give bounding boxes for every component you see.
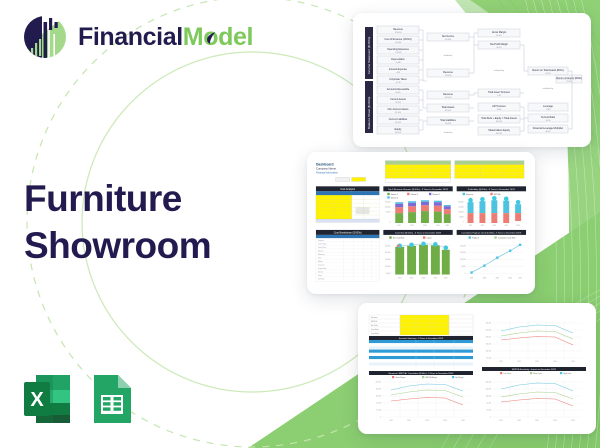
svg-text:Total Debt + Equity = Total As: Total Debt + Equity = Total Assets bbox=[481, 117, 517, 120]
svg-text:Financial Information: Financial Information bbox=[316, 171, 339, 174]
svg-text:20X1: 20X1 bbox=[499, 361, 503, 363]
svg-text:20X4: 20X4 bbox=[443, 420, 447, 422]
brand-word-model: Model bbox=[183, 23, 253, 51]
svg-text:200,000: 200,000 bbox=[458, 202, 463, 204]
svg-text:20X1: 20X1 bbox=[398, 277, 402, 279]
svg-text:50,000: 50,000 bbox=[486, 403, 491, 405]
svg-text:20X3: 20X3 bbox=[423, 225, 427, 227]
svg-text:100,000: 100,000 bbox=[486, 396, 492, 398]
svg-text:62,100: 62,100 bbox=[395, 112, 401, 114]
svg-text:Payback: Payback bbox=[472, 238, 479, 240]
brand-word-financial: Financial bbox=[78, 23, 183, 51]
svg-text:Gross Margin: Gross Margin bbox=[492, 31, 507, 34]
svg-text:20X4: 20X4 bbox=[553, 361, 557, 363]
excel-icon[interactable]: X bbox=[22, 373, 72, 425]
svg-text:18,300: 18,300 bbox=[395, 122, 401, 124]
svg-text:200,000: 200,000 bbox=[385, 252, 390, 254]
svg-text:Non-Current Assets: Non-Current Assets bbox=[388, 108, 410, 111]
svg-text:20X1: 20X1 bbox=[470, 277, 474, 279]
svg-text:24,900: 24,900 bbox=[395, 102, 401, 104]
svg-text:20X4: 20X4 bbox=[508, 277, 512, 279]
svg-text:Cumulative Payback Chart ($ 00: Cumulative Payback Chart ($ 000s) - 5 Ye… bbox=[461, 232, 521, 235]
svg-text:-1,480: -1,480 bbox=[395, 62, 400, 64]
svg-text:Current Assets: Current Assets bbox=[390, 98, 406, 101]
svg-text:24,000: 24,000 bbox=[445, 123, 451, 125]
svg-text:20X4: 20X4 bbox=[504, 225, 508, 227]
svg-text:20X1: 20X1 bbox=[469, 225, 473, 227]
poster-canvas: FinancialModel Furniture Showroom X bbox=[0, 0, 600, 448]
svg-text:20X4: 20X4 bbox=[436, 225, 440, 227]
svg-text:123,456: 123,456 bbox=[445, 97, 452, 99]
svg-text:Income Statement ($ 000s): Income Statement ($ 000s) bbox=[367, 37, 371, 74]
google-sheets-icon[interactable] bbox=[86, 373, 136, 425]
svg-text:Stream 3: Stream 3 bbox=[432, 193, 439, 196]
sensitivity-charts-thumbnail: RevenueEBITDA Net ProfitCash Flow Cumula… bbox=[364, 308, 590, 429]
svg-text:Current Ratio: Current Ratio bbox=[541, 116, 556, 119]
svg-text:150,000: 150,000 bbox=[486, 344, 492, 346]
svg-text:20X4: 20X4 bbox=[553, 420, 557, 422]
svg-text:52.5%: 52.5% bbox=[545, 73, 551, 75]
svg-text:Salaries: Salaries bbox=[318, 251, 324, 253]
svg-text:multiplied by: multiplied by bbox=[494, 69, 505, 72]
financial-dashboard-card[interactable]: Dashboard Company Name Financial Informa… bbox=[307, 152, 535, 294]
svg-text:100,000: 100,000 bbox=[458, 212, 463, 214]
svg-text:20X2: 20X2 bbox=[407, 420, 411, 422]
svg-text:Interest Expense: Interest Expense bbox=[389, 68, 408, 71]
svg-text:Revenue: Revenue bbox=[393, 28, 403, 31]
svg-text:Gross Margin: Gross Margin bbox=[395, 376, 405, 379]
svg-text:200,000: 200,000 bbox=[376, 382, 382, 384]
svg-text:16.59: 16.59 bbox=[546, 120, 551, 122]
svg-text:150,000: 150,000 bbox=[385, 202, 390, 204]
svg-text:Net Margin: Net Margin bbox=[455, 376, 463, 379]
svg-text:20X5: 20X5 bbox=[571, 420, 575, 422]
circular-chart-logo-icon bbox=[22, 14, 68, 60]
svg-text:Total Assets: Total Assets bbox=[442, 106, 456, 109]
svg-text:20X2: 20X2 bbox=[481, 225, 485, 227]
svg-text:Stream 2: Stream 2 bbox=[411, 193, 418, 196]
svg-text:20X5: 20X5 bbox=[461, 420, 465, 422]
svg-text:Revenue: Revenue bbox=[371, 317, 377, 319]
file-format-icons: X bbox=[22, 373, 136, 425]
svg-text:63,020: 63,020 bbox=[395, 132, 401, 134]
svg-text:20X2: 20X2 bbox=[410, 225, 414, 227]
svg-text:Revenue: Revenue bbox=[466, 194, 473, 196]
svg-text:50,000: 50,000 bbox=[386, 273, 391, 275]
svg-text:20X1: 20X1 bbox=[499, 420, 503, 422]
svg-text:20X5: 20X5 bbox=[518, 277, 522, 279]
brand-letter-o: o bbox=[203, 25, 218, 50]
svg-text:100,000: 100,000 bbox=[385, 207, 390, 209]
svg-text:250,000: 250,000 bbox=[385, 245, 390, 247]
svg-text:300,000: 300,000 bbox=[486, 323, 492, 325]
svg-text:200,000: 200,000 bbox=[486, 337, 492, 339]
page-title-line-1: Furniture bbox=[24, 175, 211, 222]
dupont-flowchart-thumbnail: Income Statement ($ 000s) Balance Sheet … bbox=[360, 19, 584, 141]
svg-text:Total Asset Turnover: Total Asset Turnover bbox=[488, 91, 510, 94]
svg-text:divided by: divided by bbox=[444, 55, 453, 57]
svg-text:-9,210: -9,210 bbox=[395, 82, 400, 84]
svg-text:87,000: 87,000 bbox=[445, 110, 451, 112]
svg-text:Balance Sheet ($ 000s): Balance Sheet ($ 000s) bbox=[367, 97, 371, 129]
svg-text:20X5: 20X5 bbox=[516, 225, 520, 227]
svg-text:Scenario Summary - 5 Years to: Scenario Summary - 5 Years to December 2… bbox=[399, 337, 444, 340]
excel-glyph: X bbox=[30, 389, 44, 411]
svg-text:20X5: 20X5 bbox=[446, 225, 450, 227]
svg-text:61.0%: 61.0% bbox=[496, 35, 502, 37]
brand-word-model-pre: M bbox=[183, 23, 203, 51]
svg-text:-45,000: -45,000 bbox=[395, 42, 401, 44]
svg-text:250,000: 250,000 bbox=[486, 330, 492, 332]
svg-text:Corporate Taxes: Corporate Taxes bbox=[389, 78, 407, 81]
svg-text:20X2: 20X2 bbox=[483, 277, 487, 279]
svg-text:20X2: 20X2 bbox=[410, 277, 414, 279]
svg-text:14.69: 14.69 bbox=[497, 109, 502, 111]
svg-text:Accounts Receivable: Accounts Receivable bbox=[387, 88, 410, 91]
svg-text:50,000: 50,000 bbox=[461, 266, 466, 268]
svg-text:10,000: 10,000 bbox=[486, 410, 491, 412]
svg-text:72.4%: 72.4% bbox=[566, 81, 572, 83]
svg-text:20X3: 20X3 bbox=[535, 420, 539, 422]
svg-text:45,646: 45,646 bbox=[445, 39, 451, 41]
svg-text:Depreciation: Depreciation bbox=[391, 58, 405, 61]
svg-text:Revenue: Revenue bbox=[443, 71, 453, 74]
svg-text:Shareholders Equity: Shareholders Equity bbox=[488, 129, 510, 132]
svg-text:Cost of Revenue (COGS): Cost of Revenue (COGS) bbox=[384, 38, 411, 41]
svg-text:Net Profit Margin: Net Profit Margin bbox=[490, 43, 509, 46]
sensitivity-charts-card[interactable]: RevenueEBITDA Net ProfitCash Flow Cumula… bbox=[358, 303, 596, 434]
leaf-icon bbox=[205, 31, 216, 44]
svg-text:63,020: 63,020 bbox=[496, 133, 502, 135]
financial-dashboard-thumbnail: Dashboard Company Name Financial Informa… bbox=[312, 156, 530, 290]
svg-text:20X3: 20X3 bbox=[493, 225, 497, 227]
svg-text:AR Turnover: AR Turnover bbox=[492, 105, 506, 108]
svg-text:Top 5 Revenue Streams ($ 000s): Top 5 Revenue Streams ($ 000s) - 5 Years… bbox=[388, 188, 449, 191]
svg-text:Revenue: Revenue bbox=[443, 93, 453, 96]
svg-text:150,000: 150,000 bbox=[385, 259, 390, 261]
svg-text:Profitability ($ 000s) - 5 Yea: Profitability ($ 000s) - 5 Years to Dece… bbox=[468, 188, 516, 191]
svg-text:Company Name: Company Name bbox=[316, 166, 336, 170]
svg-text:1.42: 1.42 bbox=[497, 95, 501, 97]
svg-text:Return on Total Assets (ROA): Return on Total Assets (ROA) bbox=[532, 69, 564, 72]
svg-text:200,000: 200,000 bbox=[486, 382, 492, 384]
svg-text:36.9%: 36.9% bbox=[496, 47, 502, 49]
svg-text:100,000: 100,000 bbox=[486, 351, 492, 353]
svg-text:Total Liabilities: Total Liabilities bbox=[440, 119, 456, 122]
svg-text:Revenue: Revenue bbox=[318, 240, 324, 242]
svg-text:100,000: 100,000 bbox=[376, 396, 382, 398]
svg-text:Taxes: Taxes bbox=[318, 275, 322, 277]
svg-text:20X4: 20X4 bbox=[434, 277, 438, 279]
svg-text:Cash Flow: Cash Flow bbox=[371, 329, 379, 331]
brand-word-model-post: del bbox=[218, 23, 253, 51]
svg-text:300,000: 300,000 bbox=[460, 245, 465, 247]
svg-text:123,456: 123,456 bbox=[445, 75, 452, 77]
brand-wordmark: FinancialModel bbox=[78, 25, 253, 50]
svg-text:150,000: 150,000 bbox=[376, 389, 382, 391]
svg-text:EBITDA Sensitivity - Impact on: EBITDA Sensitivity - Impact on December … bbox=[512, 368, 557, 371]
svg-text:Return on Equity (ROE): Return on Equity (ROE) bbox=[556, 77, 581, 80]
svg-text:50,000: 50,000 bbox=[459, 217, 464, 219]
svg-text:123,456: 123,456 bbox=[395, 32, 402, 34]
svg-text:40.22: 40.22 bbox=[546, 131, 551, 133]
svg-text:20X3: 20X3 bbox=[425, 420, 429, 422]
svg-text:20X2: 20X2 bbox=[517, 361, 521, 363]
svg-text:100,000: 100,000 bbox=[460, 259, 465, 261]
svg-text:Current Liabilities: Current Liabilities bbox=[389, 118, 408, 121]
svg-text:Insurance: Insurance bbox=[318, 265, 325, 267]
svg-text:10,000: 10,000 bbox=[376, 410, 381, 412]
svg-text:1.380: 1.380 bbox=[546, 109, 551, 111]
svg-text:-620: -620 bbox=[396, 72, 400, 74]
svg-text:Financial Leverage Multiplier: Financial Leverage Multiplier bbox=[533, 127, 564, 130]
svg-text:20X2: 20X2 bbox=[517, 420, 521, 422]
svg-text:87,000: 87,000 bbox=[496, 121, 502, 123]
svg-text:multiplied by: multiplied by bbox=[543, 87, 554, 90]
svg-text:-21,500: -21,500 bbox=[395, 52, 401, 54]
svg-text:Capex: Capex bbox=[427, 238, 432, 240]
svg-text:Base Case: Base Case bbox=[533, 373, 541, 375]
svg-text:Low Case: Low Case bbox=[503, 373, 511, 375]
svg-text:150,000: 150,000 bbox=[458, 207, 463, 209]
svg-text:50,000: 50,000 bbox=[376, 403, 381, 405]
svg-text:50,000: 50,000 bbox=[486, 358, 491, 360]
svg-text:Stream 1: Stream 1 bbox=[391, 193, 398, 196]
svg-text:Net Cash Flow: Net Cash Flow bbox=[393, 237, 405, 240]
page-title: Furniture Showroom bbox=[24, 175, 211, 270]
svg-text:20X3: 20X3 bbox=[496, 277, 500, 279]
svg-text:Leverage: Leverage bbox=[543, 105, 554, 108]
svg-text:100,000: 100,000 bbox=[385, 266, 390, 268]
svg-text:Cash flow ($ 000s) - 5 Years t: Cash flow ($ 000s) - 5 Years to December… bbox=[395, 232, 442, 235]
svg-text:High Case: High Case bbox=[563, 373, 571, 375]
svg-text:20X3: 20X3 bbox=[422, 277, 426, 279]
svg-text:Revenue / EBITDA / Cumulative: Revenue / EBITDA / Cumulative ($ 000s) -… bbox=[389, 372, 454, 375]
svg-text:20X3: 20X3 bbox=[535, 361, 539, 363]
svg-text:EBITDA Margin: EBITDA Margin bbox=[425, 376, 437, 379]
dupont-flowchart-card[interactable]: Income Statement ($ 000s) Balance Sheet … bbox=[353, 13, 591, 147]
svg-text:Equity: Equity bbox=[395, 128, 402, 131]
svg-text:20X1: 20X1 bbox=[397, 225, 401, 227]
svg-text:Net Income: Net Income bbox=[442, 35, 455, 38]
page-title-line-2: Showroom bbox=[24, 222, 211, 269]
svg-text:Operating Expenses: Operating Expenses bbox=[387, 48, 409, 51]
svg-text:150,000: 150,000 bbox=[486, 389, 492, 391]
svg-text:Cost Analysis: Cost Analysis bbox=[340, 188, 356, 191]
svg-text:divided by: divided by bbox=[444, 132, 453, 134]
svg-text:20X5: 20X5 bbox=[571, 361, 575, 363]
svg-text:8,400: 8,400 bbox=[396, 92, 401, 94]
svg-text:200,000: 200,000 bbox=[460, 252, 465, 254]
svg-text:EBITDA: EBITDA bbox=[494, 193, 501, 196]
svg-text:20X1: 20X1 bbox=[389, 420, 393, 422]
svg-text:50,000: 50,000 bbox=[386, 212, 391, 214]
svg-text:20X5: 20X5 bbox=[444, 277, 448, 279]
svg-text:Cumulative Cash Flow: Cumulative Cash Flow bbox=[498, 237, 516, 240]
svg-text:Stream 4: Stream 4 bbox=[391, 196, 398, 199]
svg-text:Cost Breakdown ($ 000s): Cost Breakdown ($ 000s) bbox=[334, 232, 362, 235]
brand-lockup: FinancialModel bbox=[22, 14, 253, 60]
